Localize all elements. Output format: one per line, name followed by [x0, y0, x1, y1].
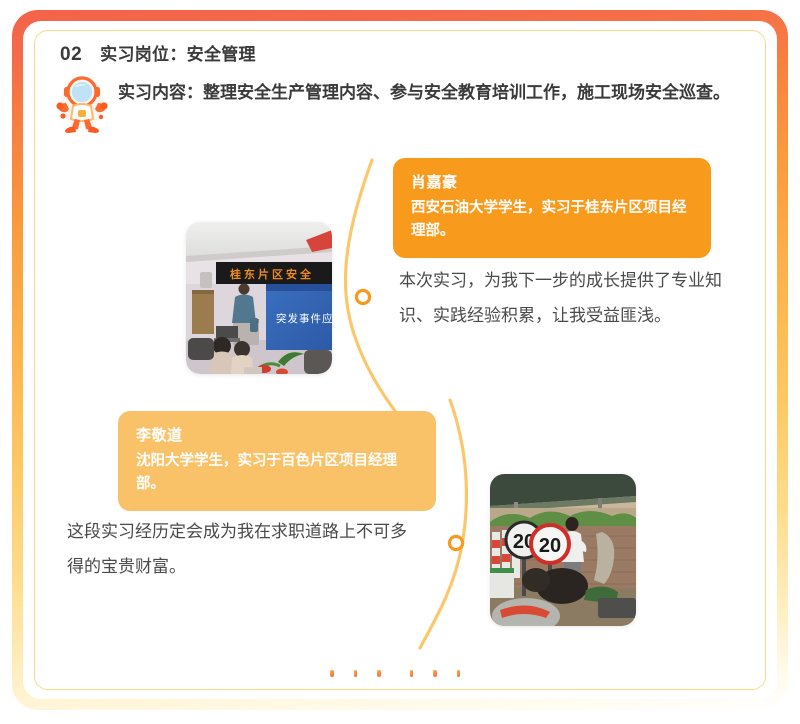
testimonial-card-one: 肖嘉豪 西安石油大学学生，实习于桂东片区项目经理部。 — [393, 158, 711, 258]
deco-dot — [457, 670, 461, 677]
testimonial-two-name: 李敬道 — [136, 425, 418, 448]
astronaut-icon — [54, 72, 110, 139]
header-content-row: 实习内容：整理安全生产管理内容、参与安全教育培训工作，施工现场安全巡查。 — [60, 76, 760, 139]
header-title-row: 02 实习岗位：安全管理 — [60, 40, 760, 66]
svg-text:20: 20 — [539, 535, 561, 557]
internship-content-label: 实习内容：整理安全生产管理内容、参与安全教育培训工作，施工现场安全巡查。 — [118, 76, 760, 109]
poster-page: 02 实习岗位：安全管理 — [0, 0, 800, 724]
bottom-dot-decoration — [330, 670, 480, 677]
header-block: 02 实习岗位：安全管理 — [60, 40, 760, 139]
testimonial-two-quote: 这段实习经历定会成为我在求职道路上不可多得的宝贵财富。 — [67, 515, 412, 585]
deco-dot — [433, 670, 437, 677]
photo-training-meeting: 桂东片区安全 突发事件应 — [186, 222, 332, 374]
section-number: 02 — [60, 44, 82, 66]
deco-dot — [377, 670, 381, 677]
internship-position-label: 实习岗位：安全管理 — [100, 40, 256, 65]
svg-text:突发事件应: 突发事件应 — [276, 312, 332, 325]
deco-dot — [354, 670, 358, 677]
photo-site-signage: 20 20 — [490, 474, 636, 626]
deco-dot — [410, 670, 414, 677]
testimonial-card-two: 李敬道 沈阳大学学生，实习于百色片区项目经理部。 — [118, 411, 436, 511]
svg-text:桂东片区安全: 桂东片区安全 — [229, 267, 314, 281]
testimonial-one-quote: 本次实习，为我下一步的成长提供了专业知识、实践经验积累，让我受益匪浅。 — [399, 264, 729, 334]
testimonial-one-affiliation: 西安石油大学学生，实习于桂东片区项目经理部。 — [411, 197, 693, 243]
deco-dot-gap — [401, 673, 410, 674]
testimonial-one-name: 肖嘉豪 — [411, 172, 693, 195]
deco-dot — [330, 670, 334, 677]
testimonial-two-affiliation: 沈阳大学学生，实习于百色片区项目经理部。 — [136, 450, 418, 496]
